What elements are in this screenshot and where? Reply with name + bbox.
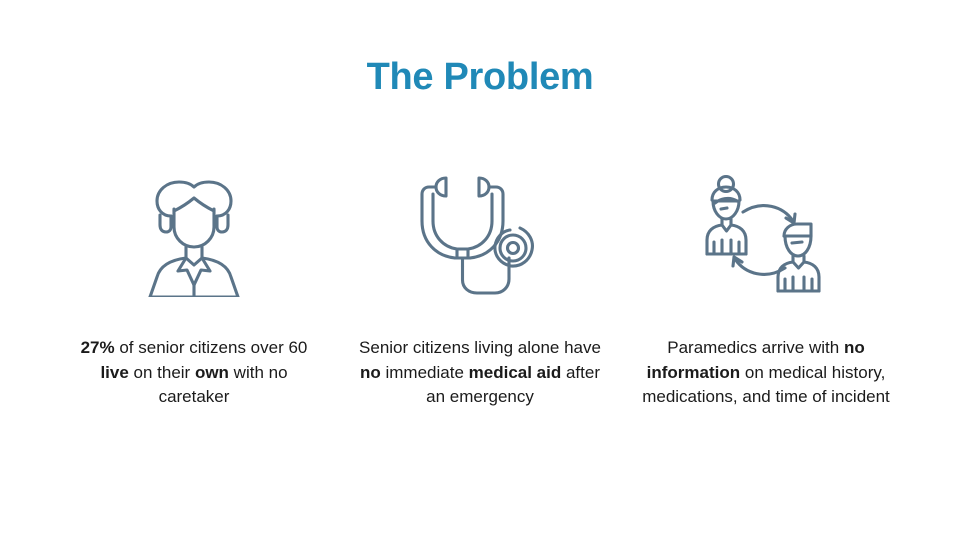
- problem-caption-2: Senior citizens living alone have no imm…: [354, 336, 606, 410]
- stethoscope-icon: [400, 170, 560, 300]
- problem-column-3: Paramedics arrive with no information on…: [632, 170, 900, 410]
- caption-segment: medical aid: [469, 363, 562, 382]
- problem-caption-3: Paramedics arrive with no information on…: [640, 336, 892, 410]
- caption-segment: no: [360, 363, 381, 382]
- caption-segment: live: [100, 363, 128, 382]
- problem-columns: 27% of senior citizens over 60 live on t…: [60, 170, 900, 410]
- caption-segment: 27%: [81, 338, 115, 357]
- problem-caption-1: 27% of senior citizens over 60 live on t…: [68, 336, 320, 410]
- caption-segment: own: [195, 363, 229, 382]
- problem-column-2: Senior citizens living alone have no imm…: [346, 170, 614, 410]
- caption-segment: of senior citizens over 60: [115, 338, 308, 357]
- caption-segment: on their: [129, 363, 195, 382]
- page-title: The Problem: [0, 54, 960, 100]
- caption-segment: Senior citizens living alone have: [359, 338, 601, 357]
- senior-citizen-icon: [114, 170, 274, 300]
- slide-canvas: The Problem: [0, 0, 960, 540]
- problem-column-1: 27% of senior citizens over 60 live on t…: [60, 170, 328, 410]
- caption-segment: Paramedics arrive with: [667, 338, 844, 357]
- caption-segment: immediate: [381, 363, 469, 382]
- paramedic-patient-exchange-icon: [686, 170, 846, 300]
